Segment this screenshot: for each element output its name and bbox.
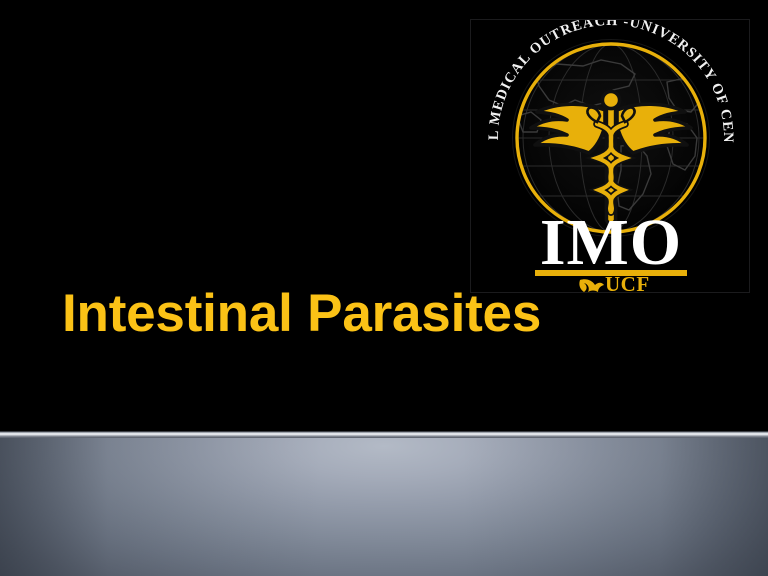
slide-divider-rule — [0, 431, 768, 438]
slide-footer-band — [0, 438, 768, 576]
slide-canvas: INTERNATIONAL MEDICAL OUTREACH -UNIVERSI… — [0, 0, 768, 576]
imo-ucf-logo-image: INTERNATIONAL MEDICAL OUTREACH -UNIVERSI… — [470, 19, 750, 293]
svg-text:UCF: UCF — [605, 272, 650, 293]
logo-artwork: INTERNATIONAL MEDICAL OUTREACH -UNIVERSI… — [471, 20, 750, 293]
page-title: Intestinal Parasites — [62, 286, 482, 342]
logo-wordmark: IMO — [540, 206, 682, 279]
